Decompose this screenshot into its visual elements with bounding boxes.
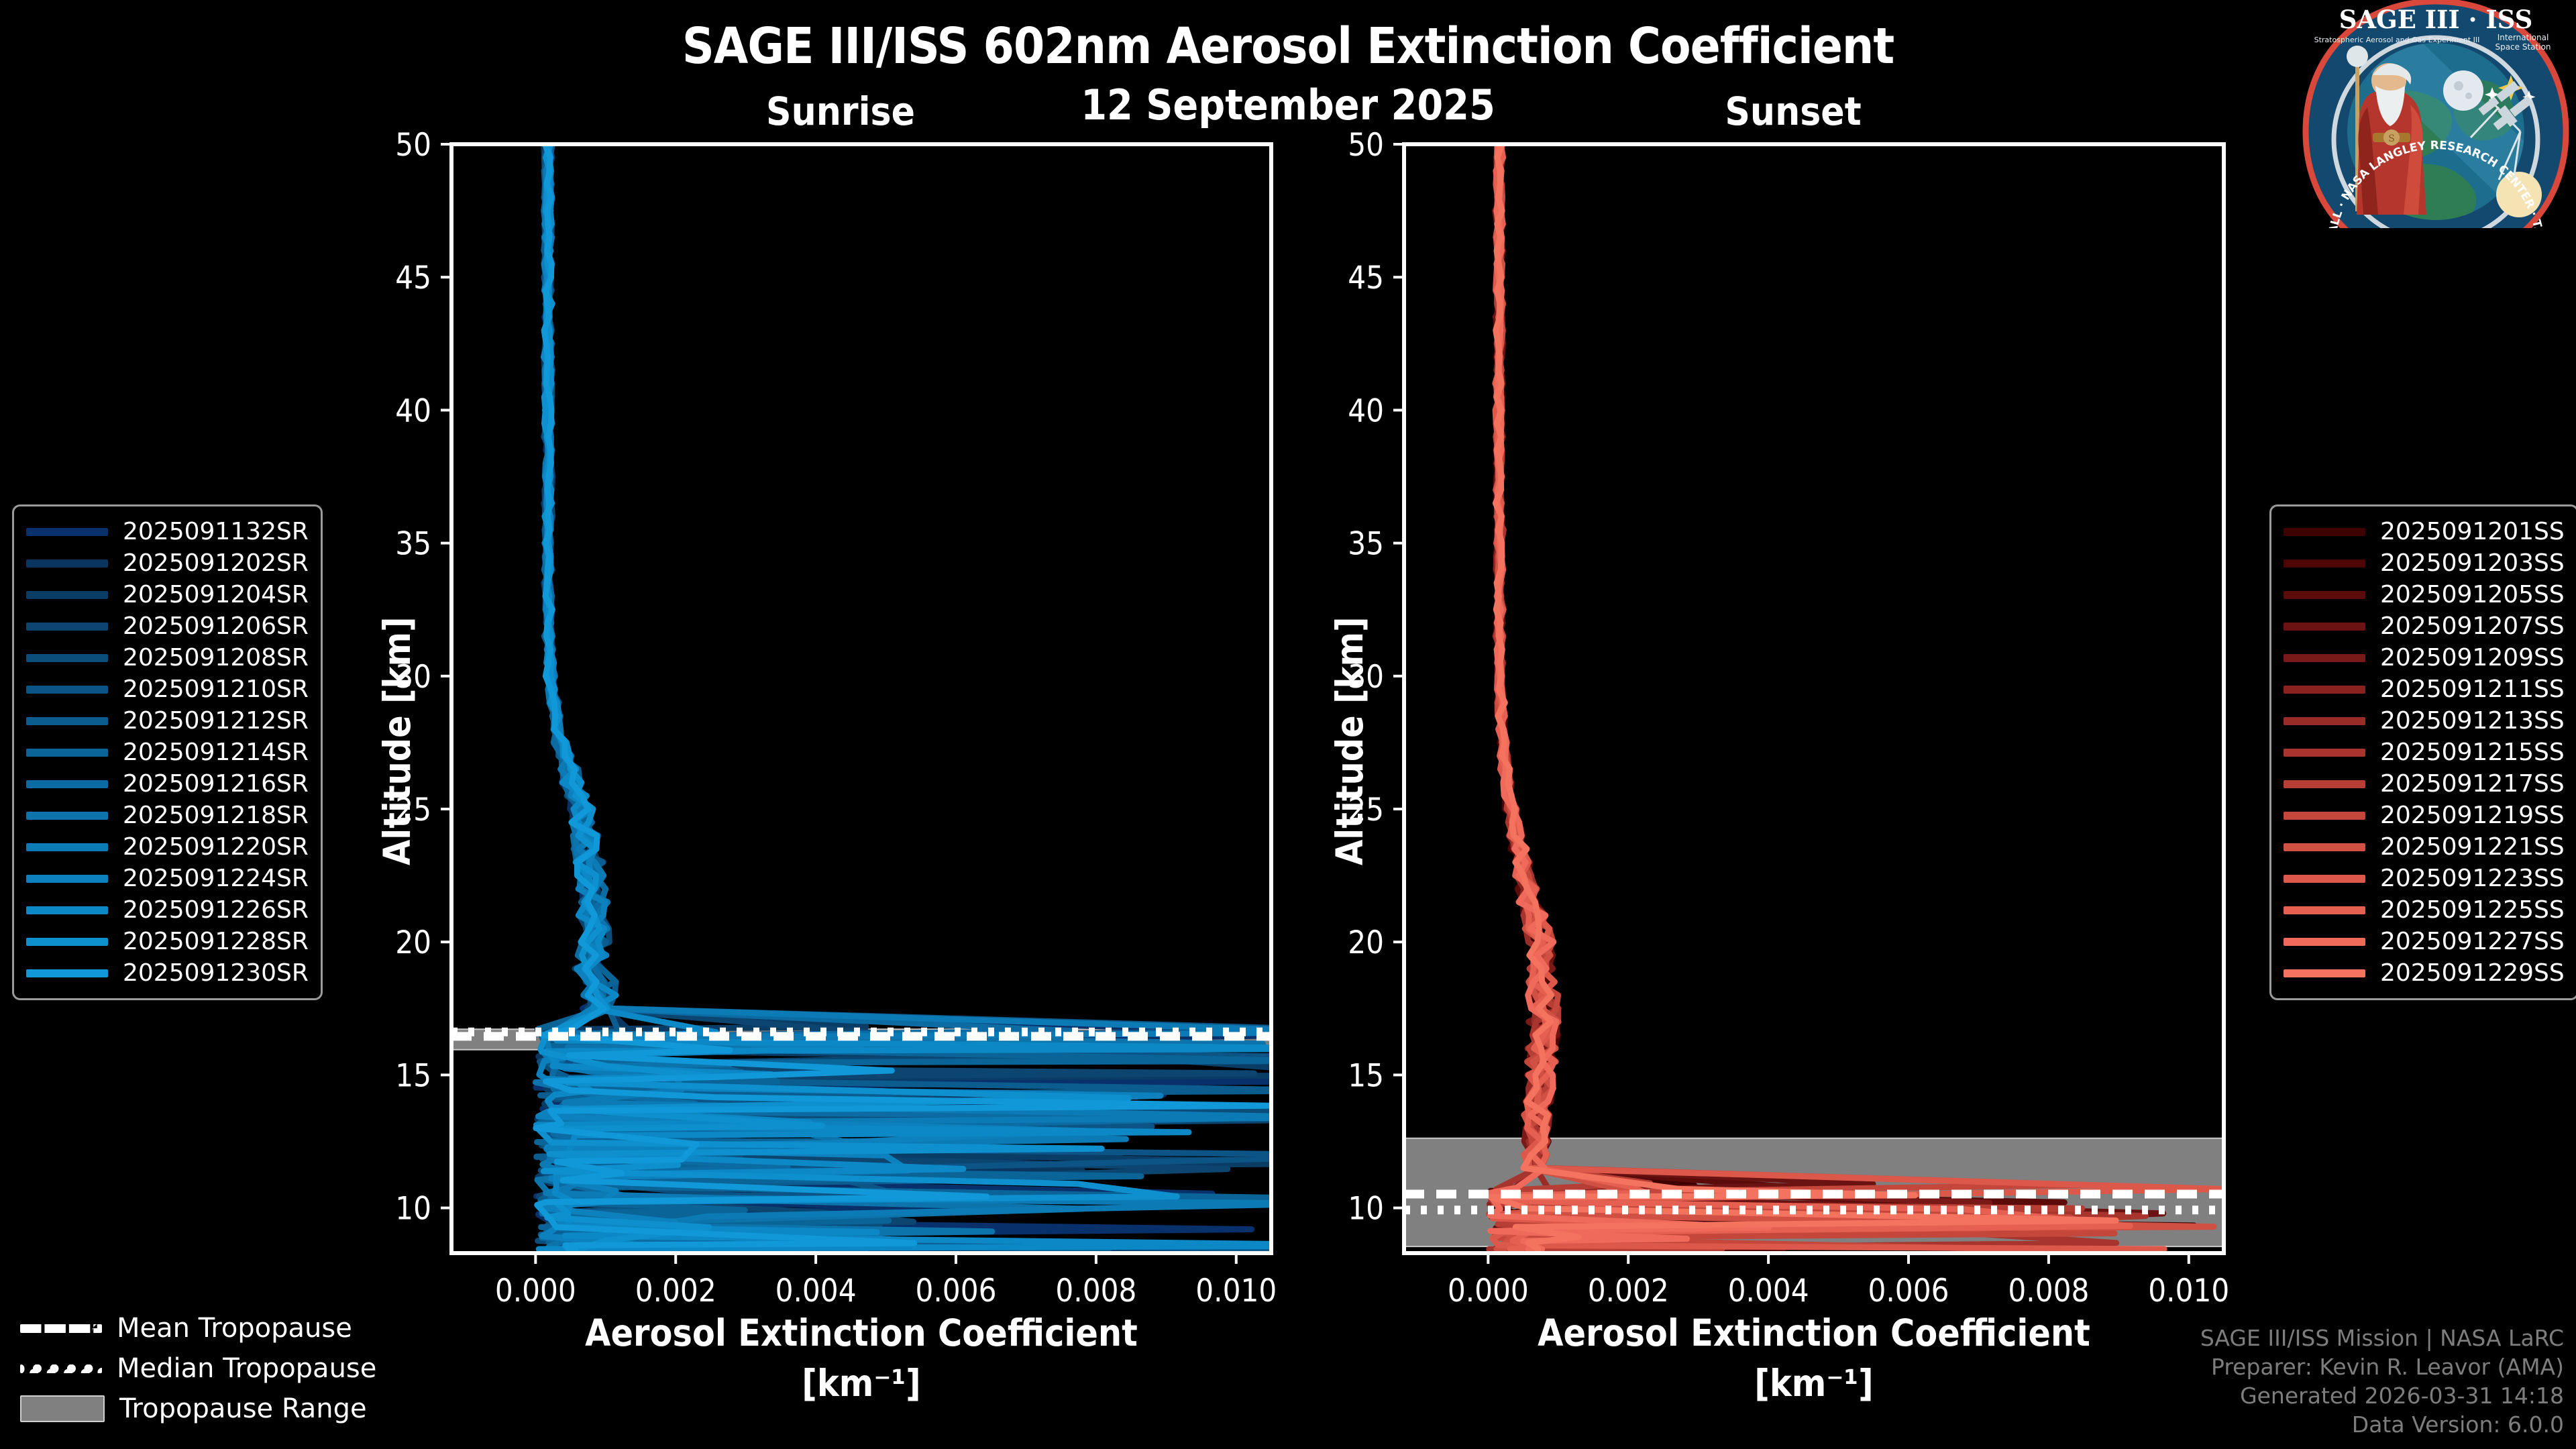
legend-item-label: 2025091226SR [123, 896, 309, 924]
y-tick-label: 20 [395, 924, 431, 961]
x-tick-label: 0.008 [2008, 1273, 2089, 1309]
plot-canvas: 0.0000.0020.0040.0060.0080.0101015202530… [1404, 144, 2224, 1253]
sunrise-legend: 2025091132SR2025091202SR2025091204SR2025… [12, 504, 323, 1000]
legend-color-swatch [2284, 780, 2365, 788]
date-subtitle: 12 September 2025 [0, 80, 2576, 129]
tropopause-legend-item: Median Tropopause [20, 1348, 376, 1389]
legend-item: 2025091230SR [26, 957, 309, 989]
legend-color-swatch [26, 969, 108, 977]
footer-line: Generated 2026-03-31 14:18 [2200, 1382, 2564, 1411]
legend-item-label: 2025091224SR [123, 865, 309, 892]
legend-item: 2025091203SS [2284, 547, 2565, 579]
x-tick-label: 0.002 [635, 1273, 716, 1309]
legend-color-swatch [26, 623, 108, 631]
legend-item-label: 2025091210SR [123, 676, 309, 703]
legend-color-swatch [2284, 528, 2365, 536]
tropopause-legend-label: Median Tropopause [117, 1353, 376, 1384]
legend-color-swatch [2284, 812, 2365, 820]
legend-color-swatch [2284, 654, 2365, 662]
legend-item: 2025091219SS [2284, 800, 2565, 831]
legend-color-swatch [2284, 749, 2365, 757]
x-tick-label: 0.000 [1448, 1273, 1529, 1309]
mission-patch-badge: S SAGE III · ISS Stratospheric Aerosol a… [2298, 0, 2574, 228]
legend-item: 2025091211SS [2284, 674, 2565, 705]
legend-item: 2025091210SR [26, 674, 309, 705]
legend-item: 2025091208SR [26, 642, 309, 674]
legend-color-swatch [2284, 875, 2365, 883]
legend-item-label: 2025091216SR [123, 770, 309, 798]
sunset-panel-title: Sunset [1592, 89, 1994, 134]
tropopause-legend-swatch [20, 1324, 102, 1333]
legend-color-swatch [26, 528, 108, 536]
legend-color-swatch [2284, 843, 2365, 851]
legend-item-label: 2025091221SS [2380, 833, 2565, 861]
legend-color-swatch [26, 843, 108, 851]
sunrise-xaxis-units: [km⁻¹] [451, 1362, 1271, 1405]
legend-item: 2025091202SR [26, 547, 309, 579]
sunset-plot: 0.0000.0020.0040.0060.0080.0101015202530… [1404, 144, 2224, 1253]
legend-item-label: 2025091204SR [123, 581, 309, 608]
legend-item: 2025091215SS [2284, 737, 2565, 768]
tropopause-legend-label: Tropopause Range [119, 1393, 367, 1424]
y-tick-label: 20 [1348, 924, 1384, 961]
tropopause-legend-item: Mean Tropopause [20, 1308, 376, 1348]
legend-color-swatch [2284, 969, 2365, 977]
legend-item-label: 2025091220SR [123, 833, 309, 861]
sunset-yaxis-label: Altitude [km] [1328, 195, 1371, 865]
sunrise-xaxis-label: Aerosol Extinction Coefficient [451, 1311, 1271, 1354]
sunset-xaxis-label: Aerosol Extinction Coefficient [1404, 1311, 2224, 1354]
legend-item: 2025091227SS [2284, 926, 2565, 957]
legend-item-label: 2025091217SS [2380, 770, 2565, 798]
tropopause-legend: Mean TropopauseMedian TropopauseTropopau… [20, 1308, 376, 1429]
legend-color-swatch [26, 906, 108, 914]
legend-item-label: 2025091214SR [123, 739, 309, 766]
legend-item-label: 2025091207SS [2380, 612, 2565, 640]
legend-item: 2025091217SS [2284, 768, 2565, 800]
legend-item-label: 2025091225SS [2380, 896, 2565, 924]
legend-item: 2025091216SR [26, 768, 309, 800]
legend-item-label: 2025091219SS [2380, 802, 2565, 829]
legend-color-swatch [26, 780, 108, 788]
y-tick-label: 50 [1348, 127, 1384, 164]
legend-item: 2025091132SR [26, 516, 309, 547]
footer-credits: SAGE III/ISS Mission | NASA LaRCPreparer… [2200, 1324, 2564, 1440]
legend-color-swatch [2284, 906, 2365, 914]
legend-color-swatch [26, 875, 108, 883]
legend-item-label: 2025091203SS [2380, 549, 2565, 577]
legend-item-label: 2025091201SS [2380, 518, 2565, 545]
page-title: SAGE III/ISS 602nm Aerosol Extinction Co… [0, 17, 2576, 75]
legend-item: 2025091213SS [2284, 705, 2565, 737]
badge-main-text: SAGE III · ISS [2339, 5, 2533, 34]
footer-line: SAGE III/ISS Mission | NASA LaRC [2200, 1324, 2564, 1353]
legend-color-swatch [26, 717, 108, 725]
legend-item: 2025091218SR [26, 800, 309, 831]
legend-item-label: 2025091230SR [123, 959, 309, 987]
tropopause-legend-swatch [20, 1395, 105, 1422]
badge-sub-left: Stratospheric Aerosol and Gas Experiment… [2314, 36, 2480, 44]
x-tick-label: 0.004 [775, 1273, 857, 1309]
legend-item-label: 2025091206SR [123, 612, 309, 640]
svg-text:S: S [2388, 133, 2395, 144]
sunrise-plot: 0.0000.0020.0040.0060.0080.0101015202530… [451, 144, 1271, 1253]
legend-item: 2025091214SR [26, 737, 309, 768]
legend-item-label: 2025091223SS [2380, 865, 2565, 892]
legend-item-label: 2025091218SR [123, 802, 309, 829]
legend-item: 2025091223SS [2284, 863, 2565, 894]
legend-item: 2025091225SS [2284, 894, 2565, 926]
x-tick-label: 0.006 [915, 1273, 996, 1309]
legend-item: 2025091206SR [26, 610, 309, 642]
legend-color-swatch [2284, 686, 2365, 694]
sunrise-panel-title: Sunrise [639, 89, 1042, 134]
legend-item-label: 2025091205SS [2380, 581, 2565, 608]
legend-item-label: 2025091213SS [2380, 707, 2565, 735]
y-tick-label: 10 [1348, 1191, 1384, 1228]
legend-item: 2025091212SR [26, 705, 309, 737]
legend-color-swatch [26, 654, 108, 662]
y-tick-label: 15 [395, 1057, 431, 1094]
y-tick-label: 10 [395, 1191, 431, 1228]
x-tick-label: 0.002 [1588, 1273, 1669, 1309]
legend-color-swatch [2284, 623, 2365, 631]
legend-color-swatch [26, 749, 108, 757]
legend-item-label: 2025091202SR [123, 549, 309, 577]
legend-item: 2025091224SR [26, 863, 309, 894]
legend-color-swatch [2284, 559, 2365, 568]
tropopause-legend-item: Tropopause Range [20, 1389, 376, 1429]
x-tick-label: 0.010 [2148, 1273, 2229, 1309]
legend-color-swatch [2284, 717, 2365, 725]
x-tick-label: 0.006 [1868, 1273, 1949, 1309]
legend-item: 2025091209SS [2284, 642, 2565, 674]
legend-color-swatch [26, 812, 108, 820]
sunset-legend: 2025091201SS2025091203SS2025091205SS2025… [2269, 504, 2576, 1000]
legend-item-label: 2025091208SR [123, 644, 309, 672]
legend-color-swatch [26, 559, 108, 568]
legend-color-swatch [2284, 591, 2365, 599]
tropopause-legend-label: Mean Tropopause [117, 1313, 352, 1344]
legend-item-label: 2025091132SR [123, 518, 309, 545]
x-tick-label: 0.000 [495, 1273, 576, 1309]
legend-color-swatch [26, 591, 108, 599]
sunset-xaxis-units: [km⁻¹] [1404, 1362, 2224, 1405]
legend-item: 2025091221SS [2284, 831, 2565, 863]
footer-line: Data Version: 6.0.0 [2200, 1411, 2564, 1440]
x-tick-label: 0.004 [1728, 1273, 1809, 1309]
legend-item: 2025091205SS [2284, 579, 2565, 610]
badge-sub-right-1: International [2498, 33, 2549, 42]
legend-item: 2025091204SR [26, 579, 309, 610]
sunrise-yaxis-label: Altitude [km] [376, 195, 419, 865]
legend-item-label: 2025091209SS [2380, 644, 2565, 672]
legend-item: 2025091201SS [2284, 516, 2565, 547]
legend-item: 2025091207SS [2284, 610, 2565, 642]
legend-item-label: 2025091228SR [123, 928, 309, 955]
legend-color-swatch [2284, 938, 2365, 946]
tropopause-legend-swatch [20, 1364, 102, 1373]
legend-item: 2025091228SR [26, 926, 309, 957]
legend-color-swatch [26, 938, 108, 946]
legend-item-label: 2025091229SS [2380, 959, 2565, 987]
legend-item-label: 2025091212SR [123, 707, 309, 735]
legend-item: 2025091229SS [2284, 957, 2565, 989]
legend-color-swatch [26, 686, 108, 694]
footer-line: Preparer: Kevin R. Leavor (AMA) [2200, 1353, 2564, 1382]
x-tick-label: 0.010 [1195, 1273, 1277, 1309]
legend-item: 2025091226SR [26, 894, 309, 926]
legend-item-label: 2025091211SS [2380, 676, 2565, 703]
y-tick-label: 15 [1348, 1057, 1384, 1094]
plot-canvas: 0.0000.0020.0040.0060.0080.0101015202530… [451, 144, 1271, 1253]
legend-item-label: 2025091215SS [2380, 739, 2565, 766]
legend-item: 2025091220SR [26, 831, 309, 863]
badge-sub-right-2: Space Station [2495, 42, 2551, 52]
y-tick-label: 50 [395, 127, 431, 164]
legend-item-label: 2025091227SS [2380, 928, 2565, 955]
x-tick-label: 0.008 [1055, 1273, 1136, 1309]
